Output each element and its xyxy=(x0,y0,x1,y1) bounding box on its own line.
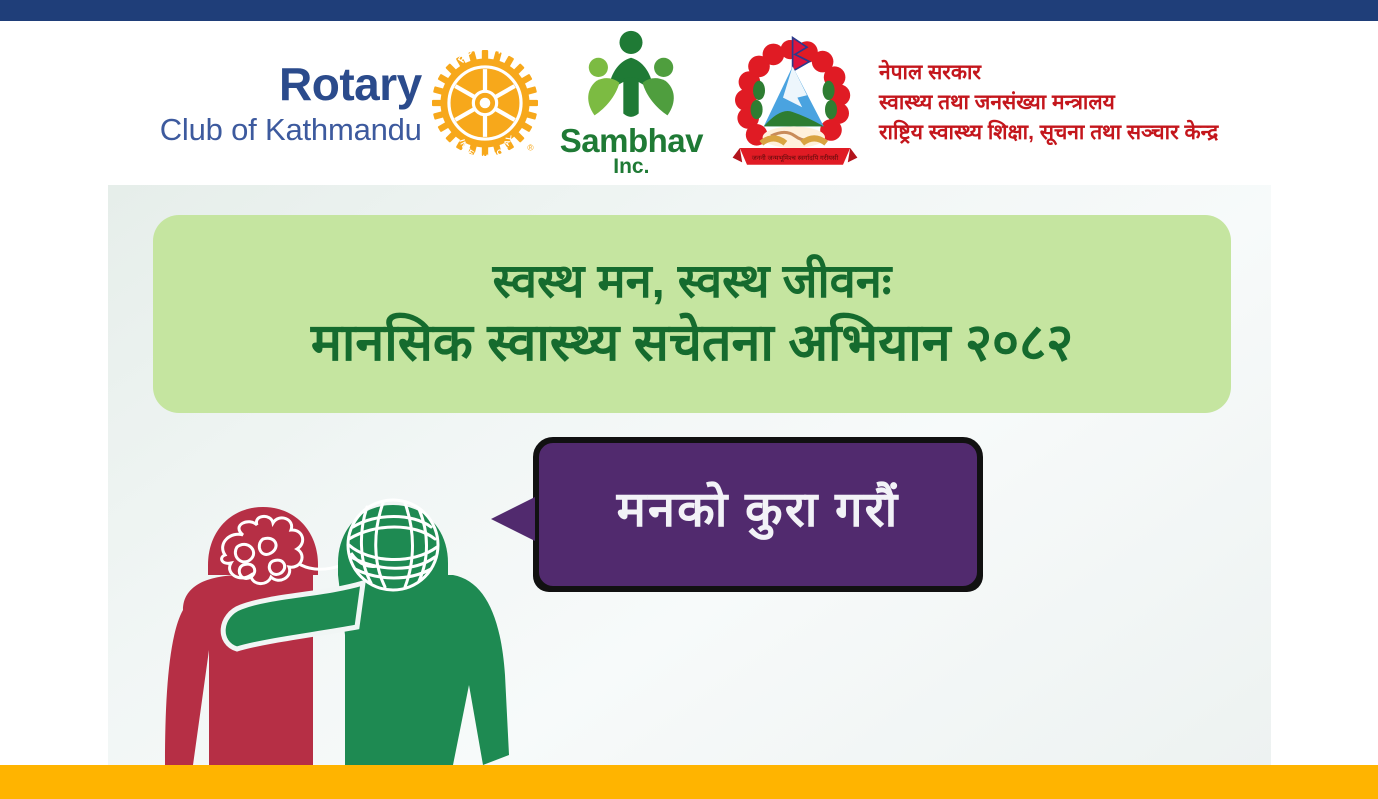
government-line-2: स्वास्थ्य तथा जनसंख्या मन्त्रालय xyxy=(879,90,1218,116)
speech-bubble: मनको कुरा गरौं xyxy=(533,437,983,592)
sambhav-people-icon xyxy=(572,29,690,125)
sambhav-suffix: Inc. xyxy=(613,156,649,177)
rotary-wheel-icon: ROTARY INTERNATIONAL ® xyxy=(432,50,538,156)
two-people-illustration xyxy=(113,435,553,765)
government-line-3: राष्ट्रिय स्वास्थ्य शिक्षा, सूचना तथा सञ… xyxy=(879,120,1218,146)
logo-row: Rotary Club of Kathmandu xyxy=(160,28,1219,178)
svg-text:जननी जन्मभूमिश्च स्वर्गादपि गर: जननी जन्मभूमिश्च स्वर्गादपि गरीयसी xyxy=(752,154,839,162)
nepal-emblem-icon: जननी जन्मभूमिश्च स्वर्गादपि गरीयसी xyxy=(723,28,867,178)
sambhav-name: Sambhav xyxy=(560,125,703,156)
top-accent-bar xyxy=(0,0,1378,21)
government-text-block: नेपाल सरकार स्वास्थ्य तथा जनसंख्या मन्त्… xyxy=(879,60,1218,147)
speech-bubble-body: मनको कुरा गरौं xyxy=(533,437,983,592)
speech-bubble-text: मनको कुरा गरौं xyxy=(617,475,900,541)
campaign-title-line-1: स्वस्थ मन, स्वस्थ जीवनः xyxy=(493,254,892,308)
government-line-1: नेपाल सरकार xyxy=(879,60,1218,86)
campaign-title-line-2: मानसिक स्वास्थ्य सचेतना अभियान २०८२ xyxy=(311,314,1073,374)
svg-text:®: ® xyxy=(527,143,534,153)
rotary-logo: Rotary Club of Kathmandu xyxy=(160,50,538,156)
rotary-wordmark: Rotary Club of Kathmandu xyxy=(160,61,422,145)
speech-bubble-tail xyxy=(491,497,535,541)
bottom-accent-bar xyxy=(0,765,1378,799)
sambhav-logo: Sambhav Inc. xyxy=(560,29,703,177)
header-logo-strip: Rotary Club of Kathmandu xyxy=(0,21,1378,185)
rotary-club-name: Club of Kathmandu xyxy=(160,114,422,145)
rotary-name: Rotary xyxy=(279,61,422,107)
campaign-title-banner: स्वस्थ मन, स्वस्थ जीवनः मानसिक स्वास्थ्य… xyxy=(153,215,1231,413)
government-logo: जननी जन्मभूमिश्च स्वर्गादपि गरीयसी नेपाल… xyxy=(723,28,1218,178)
poster-panel: स्वस्थ मन, स्वस्थ जीवनः मानसिक स्वास्थ्य… xyxy=(108,185,1271,765)
